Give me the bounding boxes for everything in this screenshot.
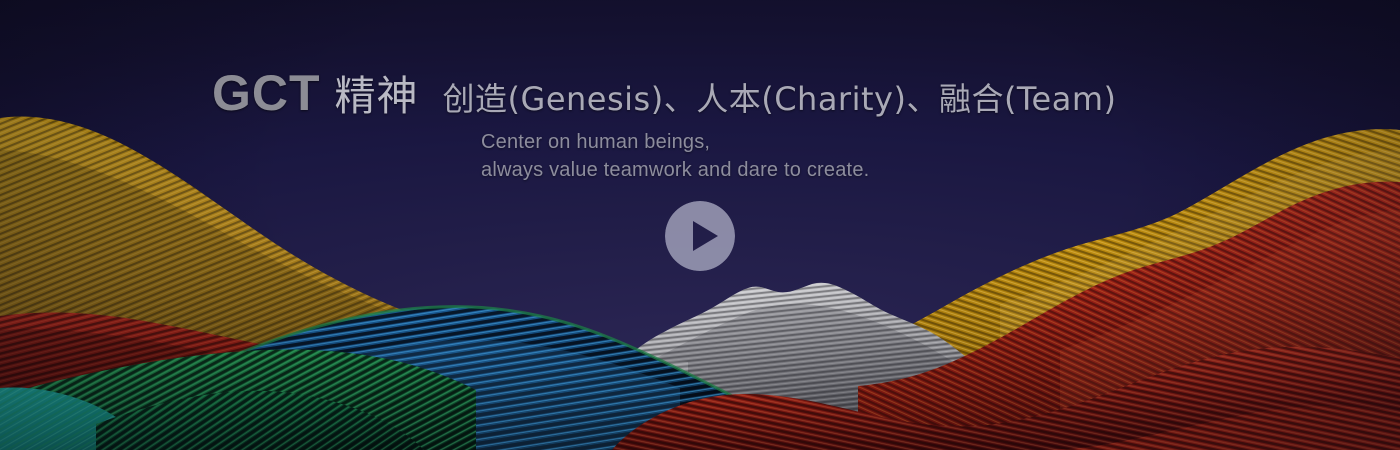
brand-logo-cn: 精神 (335, 76, 419, 117)
headline-values: 创造(Genesis)、人本(Charity)、融合(Team) (443, 83, 1117, 115)
brand-logo-gct: GCT (212, 68, 321, 118)
play-icon[interactable] (665, 201, 735, 271)
hero-banner: GCT 精神 创造(Genesis)、人本(Charity)、融合(Team) … (0, 0, 1400, 450)
subtitle-line-2: always value teamwork and dare to create… (481, 156, 869, 184)
subtitle-line-1: Center on human beings, (481, 128, 869, 156)
headline: GCT 精神 创造(Genesis)、人本(Charity)、融合(Team) (212, 68, 1117, 118)
banner-content: GCT 精神 创造(Genesis)、人本(Charity)、融合(Team) … (0, 0, 1400, 450)
subtitle: Center on human beings, always value tea… (481, 128, 869, 185)
play-video-button[interactable] (665, 201, 735, 271)
